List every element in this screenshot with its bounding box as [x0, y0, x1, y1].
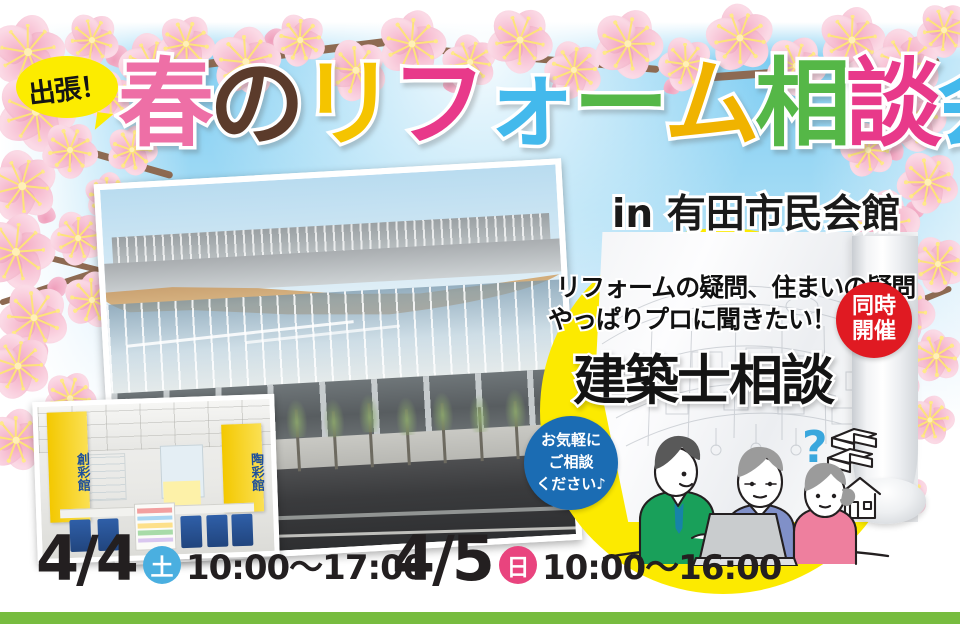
title-char-3: フ — [391, 56, 482, 152]
title-char-5: ー — [573, 56, 664, 152]
title-char-1: の — [209, 56, 300, 152]
date-group-1: 4/4土10:00〜17:00 — [36, 530, 425, 589]
simultaneous-event-badge: 同時 開催 — [836, 282, 912, 358]
shucho-label: 出張！ — [13, 50, 122, 124]
shucho-speech-bubble: 出張！ — [16, 56, 118, 118]
date-group-2: 4/5日10:00〜16:00 — [392, 530, 781, 589]
title-char-8: 談 — [846, 56, 937, 152]
event-time: 10:00〜16:00 — [542, 551, 781, 585]
event-time: 10:00〜17:00 — [186, 551, 425, 585]
title-char-7: 相 — [755, 56, 846, 152]
title-char-0: 春 — [118, 56, 209, 152]
poster-canvas: 創彩館 陶彩館 ? — [0, 0, 960, 640]
badge-red-line-1: 同時 — [852, 295, 896, 320]
event-dates: 4/4土10:00〜17:004/5日10:00〜16:00 — [0, 530, 960, 606]
photo-banner-right-text: 陶彩館 — [222, 439, 264, 506]
photo-banner-left-text: 創彩館 — [48, 431, 90, 513]
badge-red-line-2: 開催 — [852, 320, 896, 345]
title-char-2: リ — [300, 56, 391, 152]
venue-label: in 有田市民会館 — [612, 183, 901, 239]
date-number: 4/5 — [392, 530, 492, 589]
title-char-6: ム — [664, 56, 755, 152]
bubble-tail-icon — [95, 112, 113, 132]
page-title: 春のリフォーム相談会 — [118, 56, 960, 152]
title-char-4: ォ — [482, 56, 573, 152]
day-of-week-badge: 日 — [499, 546, 537, 584]
badge-blue-line-1: お気軽に — [541, 430, 601, 452]
day-of-week-badge: 土 — [143, 546, 181, 584]
bottom-green-bar — [0, 612, 960, 624]
title-char-9: 会 — [937, 56, 960, 152]
badge-blue-line-2: ご相談 — [548, 452, 593, 474]
date-number: 4/4 — [36, 530, 136, 589]
